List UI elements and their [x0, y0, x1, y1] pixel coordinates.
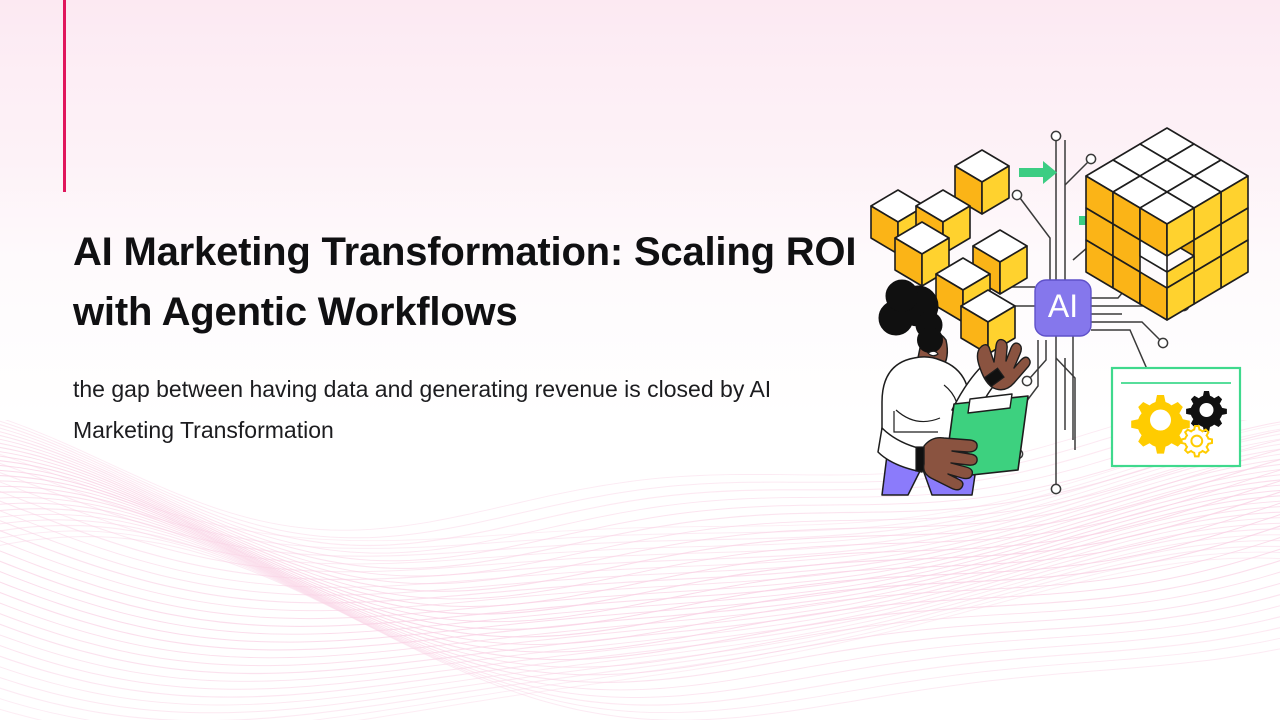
settings-panel: [1112, 368, 1240, 466]
text-block: AI Marketing Transformation: Scaling ROI…: [73, 222, 873, 451]
slide-canvas: AI Marketing Transformation: Scaling ROI…: [0, 0, 1280, 720]
ai-chip: AI: [1035, 280, 1091, 336]
page-title: AI Marketing Transformation: Scaling ROI…: [73, 222, 863, 342]
ai-chip-label: AI: [1048, 288, 1078, 324]
assembled-cube: [1086, 128, 1248, 320]
accent-bar: [63, 0, 66, 192]
arrow-right-icon: [1019, 161, 1057, 184]
page-subtitle: the gap between having data and generati…: [73, 342, 853, 451]
ai-workflow-illustration: AI: [860, 110, 1260, 505]
